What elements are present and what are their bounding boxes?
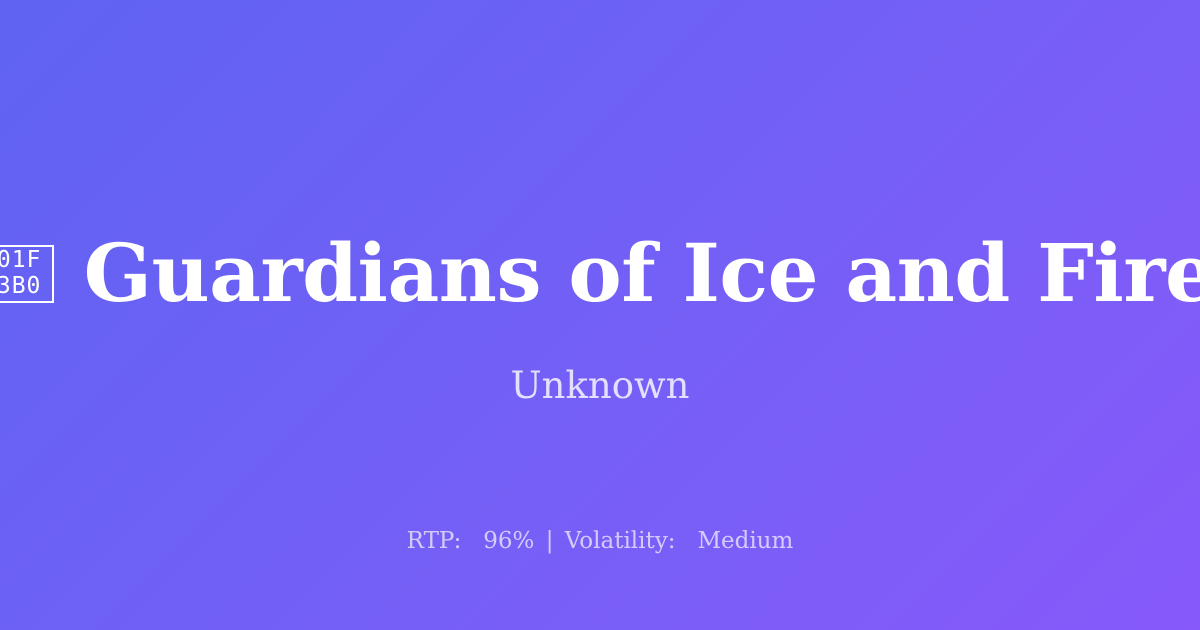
og-card: 01F 3B0 Guardians of Ice and Fire Unknow… bbox=[0, 0, 1200, 630]
hero-row: 01F 3B0 Guardians of Ice and Fire bbox=[0, 233, 1200, 315]
slot-machine-emoji-icon: 01F 3B0 bbox=[0, 245, 54, 303]
provider-subtitle: Unknown bbox=[0, 364, 1200, 408]
rtp-label: RTP: bbox=[407, 528, 462, 554]
game-stats-line: RTP: 96% | Volatility: Medium bbox=[0, 527, 1200, 557]
page-title: Guardians of Ice and Fire bbox=[84, 233, 1200, 315]
volatility-label: Volatility: bbox=[565, 528, 676, 554]
stats-separator: | bbox=[542, 528, 558, 554]
rtp-value: 96% bbox=[483, 528, 534, 554]
volatility-value: Medium bbox=[697, 528, 793, 554]
tofu-codepoint-top: 01F bbox=[0, 249, 41, 272]
tofu-codepoint-bottom: 3B0 bbox=[0, 275, 41, 298]
